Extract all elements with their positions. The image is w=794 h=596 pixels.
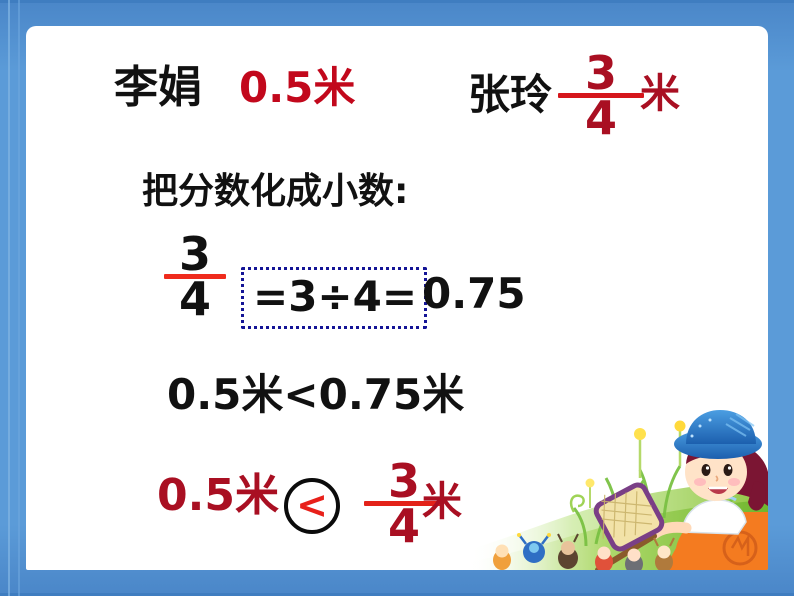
- fraction-numerator: 3: [388, 458, 420, 504]
- dandelion-flowers: [586, 421, 715, 509]
- frame-left-accent-line-1: [8, 0, 10, 596]
- girl-cheek-right: [728, 478, 740, 486]
- bug-red: [595, 547, 613, 571]
- dandelion-head: [586, 479, 595, 488]
- dandelion-head: [634, 428, 646, 440]
- person-b-fraction: 3 4: [558, 50, 644, 141]
- net-mesh: [593, 482, 664, 551]
- bug-tan: [654, 538, 674, 570]
- net-handle: [598, 536, 654, 570]
- bug-brown: [558, 534, 578, 569]
- fraction-numerator: 3: [585, 50, 617, 96]
- fraction-denominator: 4: [585, 95, 617, 141]
- girl-skirt: [664, 512, 768, 570]
- frame-top-edge: [0, 0, 794, 3]
- slide: 李娟 0.5米 张玲 3 4 米 把分数化成小数: 3 4 =3÷4= 0.75…: [0, 0, 794, 596]
- dandelion-head: [704, 425, 714, 435]
- girl-eye-left: [702, 464, 711, 476]
- person-a-name: 李娟: [114, 66, 202, 110]
- girl-arm: [654, 527, 686, 534]
- boxed-expression: =3÷4=: [241, 267, 427, 329]
- girl-hair-back: [706, 442, 768, 506]
- equation-fraction: 3 4: [164, 231, 226, 322]
- grass-hill-back: [468, 480, 768, 570]
- girl-with-butterfly-net-illustration: [468, 400, 768, 570]
- grass-curls: [571, 456, 708, 512]
- bug-blue: [517, 533, 551, 563]
- dandelion-head: [675, 421, 686, 432]
- less-than-glyph: <: [296, 486, 328, 524]
- skirt-emblem: [724, 532, 756, 564]
- grass-hill-front: [468, 500, 768, 570]
- hat-pattern: [726, 414, 754, 436]
- fraction-denominator: 4: [388, 503, 420, 549]
- fraction-numerator: 3: [179, 231, 211, 277]
- decorative-illustration: [468, 400, 768, 570]
- girl-character: [654, 410, 768, 570]
- girl-ponytail: [748, 482, 766, 511]
- fraction-denominator: 4: [179, 276, 211, 322]
- bug-characters: [493, 533, 674, 570]
- girl-hair-fringe: [686, 435, 748, 464]
- grass-blades: [574, 462, 746, 546]
- girl-mouth: [708, 488, 728, 494]
- girl-shirt: [682, 500, 746, 534]
- bug-gray: [625, 549, 643, 571]
- girl-face: [685, 443, 747, 501]
- frame-left-accent-line-2: [18, 0, 20, 596]
- butterfly-net: [585, 481, 664, 570]
- girl-cheek-left: [694, 478, 706, 486]
- person-b-unit: 米: [640, 74, 680, 114]
- circled-less-than-symbol: <: [284, 478, 340, 534]
- instruction-text: 把分数化成小数:: [142, 174, 408, 210]
- equation-result: 0.75: [422, 273, 526, 315]
- shirt-collar: [714, 497, 736, 500]
- bug-orange: [493, 545, 511, 571]
- girl-eye-right: [724, 464, 733, 476]
- person-b-name: 张玲: [468, 74, 552, 116]
- girl-hat-brim: [674, 429, 762, 459]
- skirt-emblem-glyph: [732, 538, 748, 556]
- girl-hat-crown: [686, 410, 756, 444]
- person-a-length: 0.5米: [239, 67, 355, 109]
- conclusion-unit: 米: [422, 482, 462, 522]
- slide-canvas: 李娟 0.5米 张玲 3 4 米 把分数化成小数: 3 4 =3÷4= 0.75…: [26, 26, 768, 570]
- decimal-comparison: 0.5米<0.75米: [167, 374, 464, 416]
- conclusion-left-value: 0.5米: [157, 474, 279, 518]
